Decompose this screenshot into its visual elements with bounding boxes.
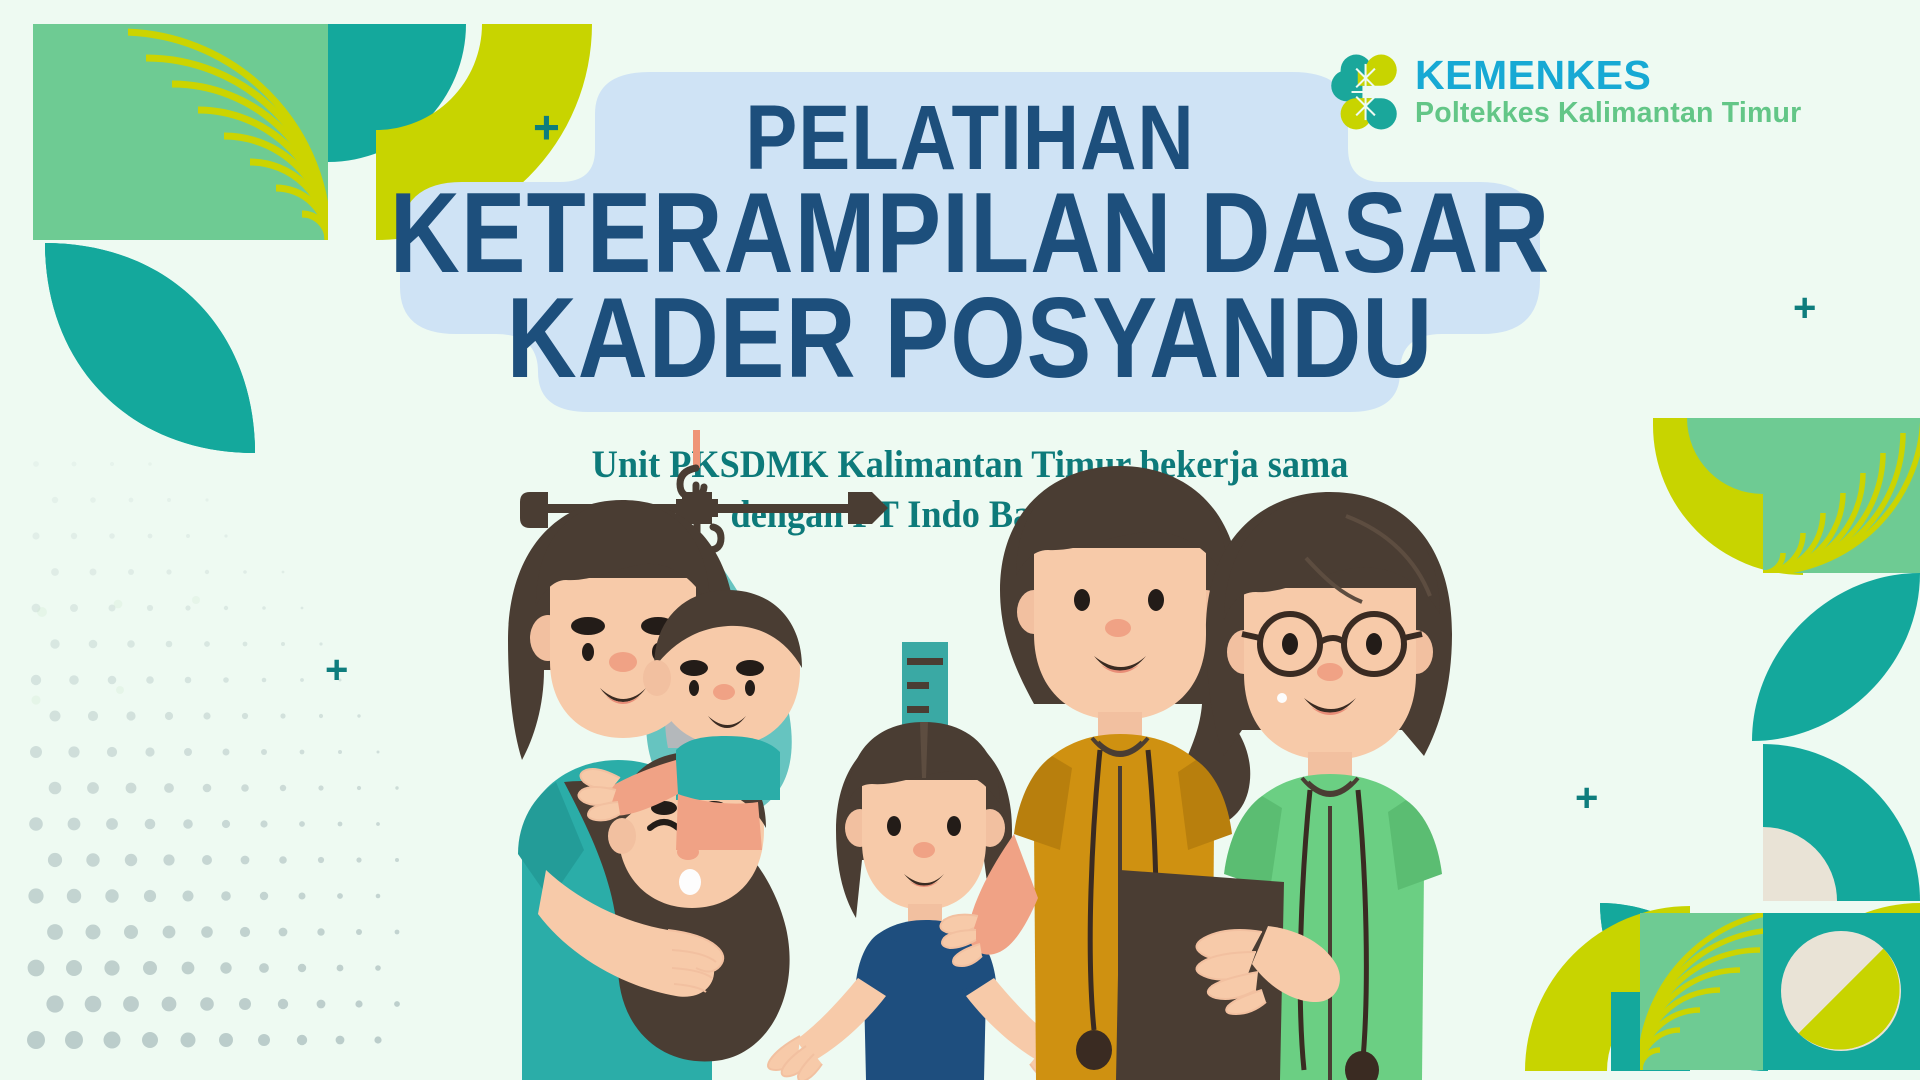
title-line-3: KADER POSYANDU <box>507 282 1434 394</box>
kemenkes-logo-mark-icon <box>1325 53 1403 131</box>
title-line-2: KETERAMPILAN DASAR <box>390 177 1550 289</box>
poster-canvas: + + + + PELATIHAN KETERAMPILAN DASAR KAD… <box>0 0 1920 1080</box>
posyandu-illustration <box>500 430 1460 1080</box>
plus-icon-mid-left: + <box>325 650 348 690</box>
plus-icon-top-right: + <box>1793 288 1816 328</box>
logo-title: KEMENKES <box>1415 55 1801 97</box>
deco-right-side <box>1525 413 1920 1076</box>
kemenkes-logo-text: KEMENKES Poltekkes Kalimantan Timur <box>1415 55 1801 129</box>
deco-halftone-dots <box>0 461 420 1080</box>
logo-subtitle: Poltekkes Kalimantan Timur <box>1415 98 1801 129</box>
plus-icon-bottom-right: + <box>1575 778 1598 818</box>
kemenkes-logo: KEMENKES Poltekkes Kalimantan Timur <box>1325 48 1885 136</box>
